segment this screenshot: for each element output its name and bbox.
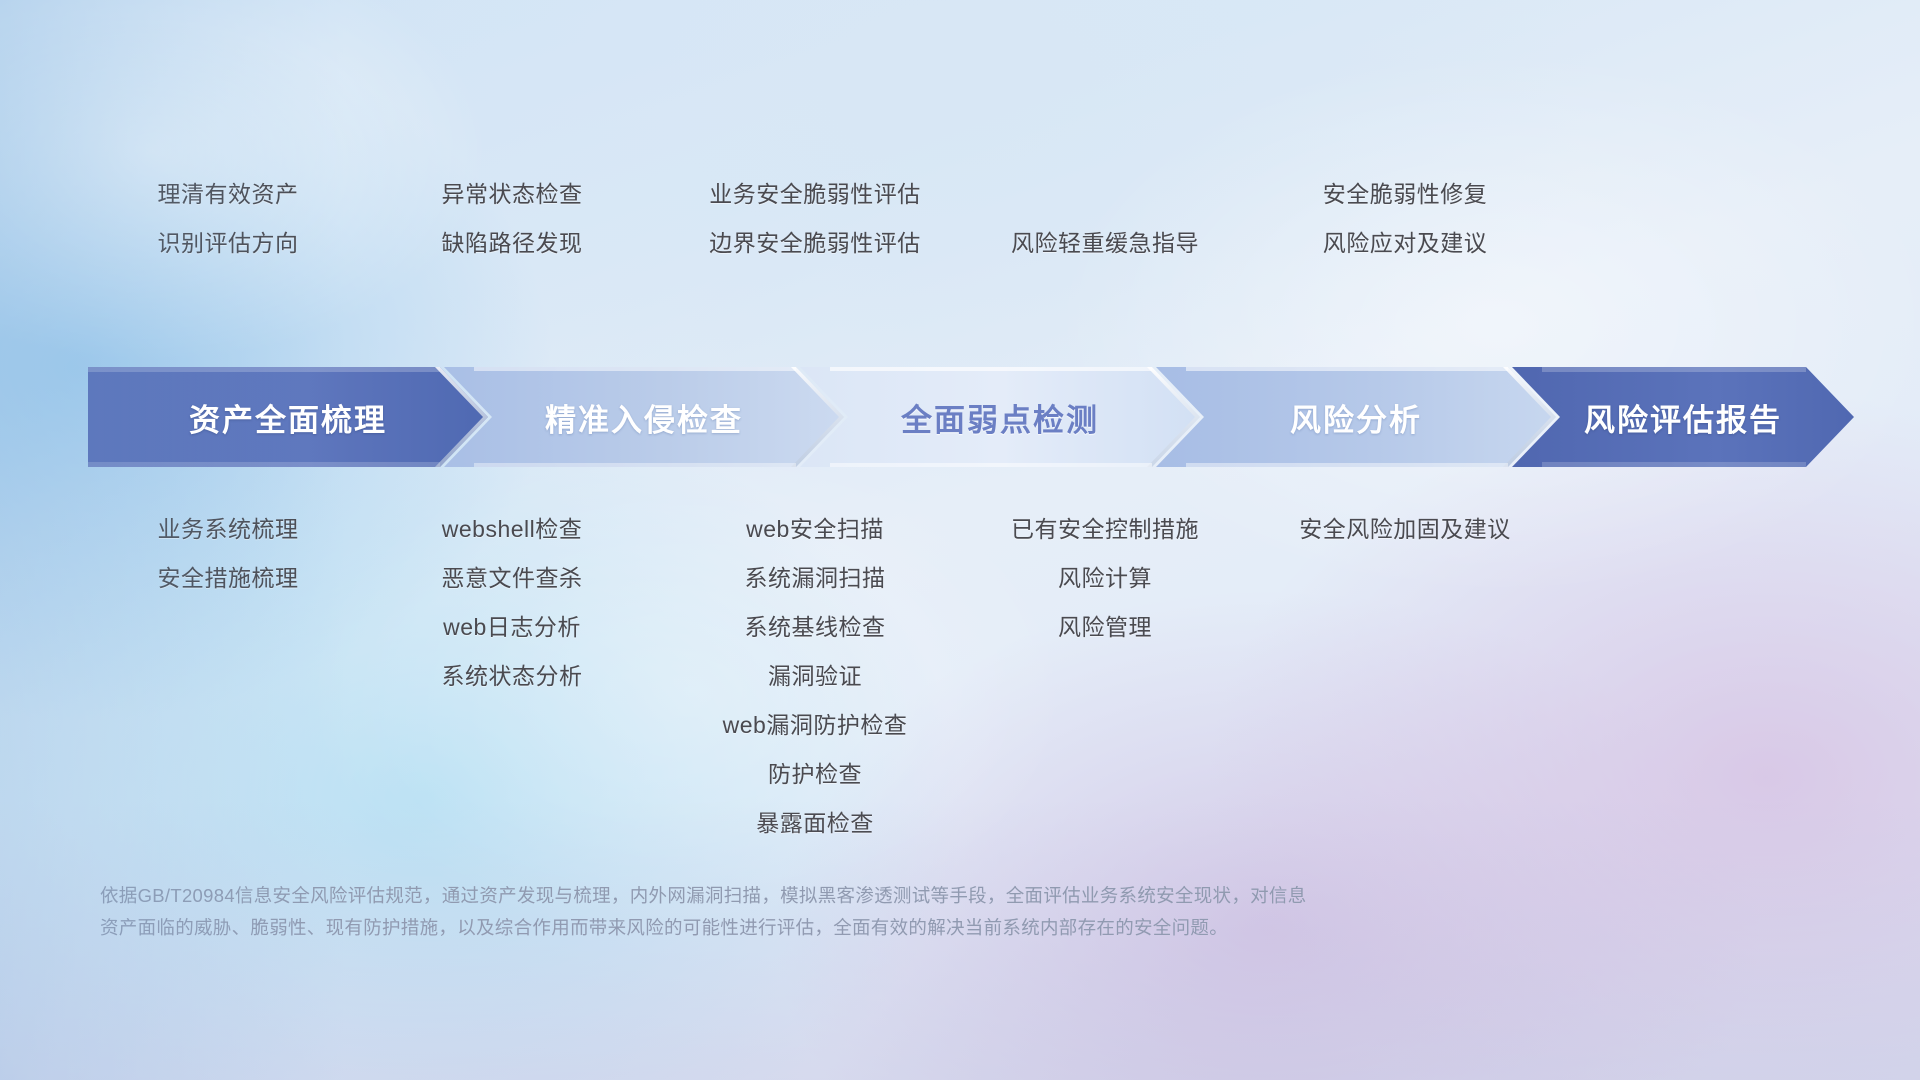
process-arrow-label: 风险分析 [1290,395,1422,440]
stage-bottom-items-asset-inventory: 业务系统梳理 安全措施梳理 [78,505,378,603]
bottom-item: 系统漏洞扫描 [745,554,886,603]
bottom-item: web日志分析 [443,603,581,652]
bottom-item: 安全措施梳理 [158,554,299,603]
bottom-item: 暴露面检查 [756,799,874,848]
bottom-item: webshell检查 [442,505,583,554]
process-arrow-label: 全面弱点检测 [901,395,1099,440]
stage-bottom-items-risk-analysis: 已有安全控制措施 风险计算 风险管理 [940,505,1270,652]
footer-line-1: 依据GB/T20984信息安全风险评估规范，通过资产发现与梳理，内外网漏洞扫描，… [100,880,1620,912]
bottom-item: 已有安全控制措施 [1011,505,1199,554]
stage-bottom-items-risk-report: 安全风险加固及建议 [1230,505,1580,554]
slide-canvas: 理清有效资产 识别评估方向 异常状态检查 缺陷路径发现 业务安全脆弱性评估 边界… [0,0,1920,1080]
stage-bottom-items-weakness-detection: web安全扫描 系统漏洞扫描 系统基线检查 漏洞验证 web漏洞防护检查 防护检… [650,505,980,848]
footer-line-2: 资产面临的威胁、脆弱性、现有防护措施，以及综合作用而带来风险的可能性进行评估，全… [100,912,1620,944]
bottom-item: web安全扫描 [746,505,884,554]
bottom-item: web漏洞防护检查 [723,701,908,750]
process-arrow-label: 资产全面梳理 [189,395,387,440]
bottom-item: 漏洞验证 [768,652,862,701]
footer-description: 依据GB/T20984信息安全风险评估规范，通过资产发现与梳理，内外网漏洞扫描，… [100,880,1620,944]
bottom-item: 恶意文件查杀 [442,554,583,603]
stage-bottom-items-intrusion-check: webshell检查 恶意文件查杀 web日志分析 系统状态分析 [362,505,662,701]
bottom-item: 业务系统梳理 [158,505,299,554]
bottom-item: 系统基线检查 [745,603,886,652]
bottom-item: 风险计算 [1058,554,1152,603]
bottom-item: 安全风险加固及建议 [1299,505,1511,554]
process-arrow-label: 风险评估报告 [1584,395,1782,440]
bottom-item: 系统状态分析 [442,652,583,701]
bottom-item: 风险管理 [1058,603,1152,652]
bottom-item: 防护检查 [768,750,862,799]
process-arrow-label: 精准入侵检查 [545,395,743,440]
